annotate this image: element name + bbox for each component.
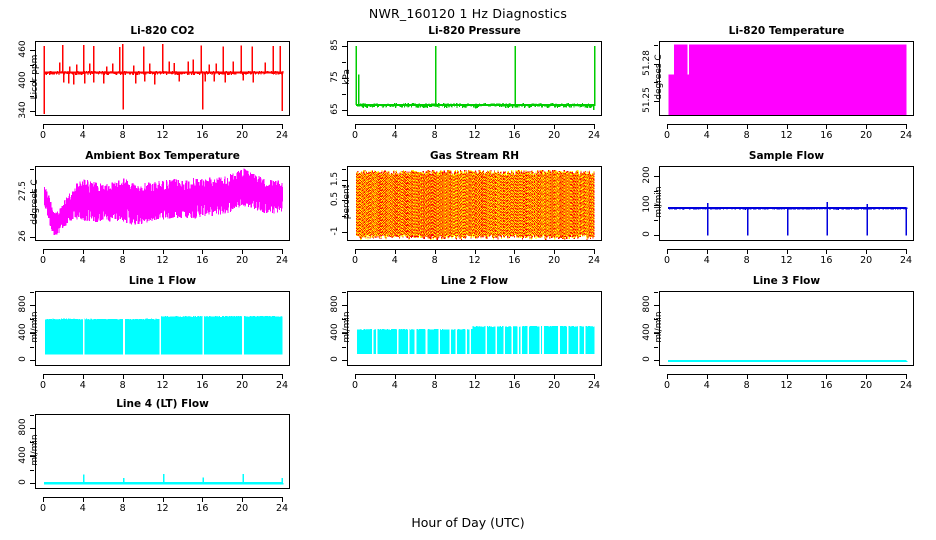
series-ambient-box-temperature [36,167,290,241]
figure-canvas: NWR_160120 1 Hz Diagnostics Li-820 CO234… [0,0,936,540]
ylabel-line-1-flow: ml/min [30,285,40,369]
ylabel-line-2-flow: ml/min [342,285,352,369]
xtick-label-li-820-co2-6: 24 [276,130,288,141]
xtick-label-line-1-flow-4: 16 [196,380,208,391]
xtick-label-gas-stream-rh-1: 4 [392,255,398,266]
xtick-mark [866,124,867,129]
ytick-label-li-820-co2-2: 460 [18,34,28,64]
ytick-label-line-1-flow-2: 800 [18,289,28,319]
plot-area-sample-flow [659,166,914,241]
ytick-label-li-820-pressure-2: 85 [330,30,340,60]
xtick-mark [707,124,708,129]
xtick-label-sample-flow-6: 24 [900,255,912,266]
ylabel-sample-flow: ml/min [654,160,664,244]
ylabel-ambient-box-temperature: degrees C [30,160,40,244]
xtick-mark [667,374,668,379]
xtick-label-line-4-lt-flow-1: 4 [80,503,86,514]
panel-line-3-flow: Line 3 Flow0400800ml/min04812162024 [624,275,936,395]
xtick-mark [355,249,356,254]
ytick-label-li-820-pressure-0: 65 [330,94,340,124]
ytick-label-line-2-flow-0: 0 [330,344,340,374]
xtick-mark [554,249,555,254]
xtick-mark [43,497,44,502]
ytick-label-li-820-co2-1: 400 [18,65,28,95]
xtick-label-line-1-flow-2: 8 [120,380,126,391]
xtick-label-ambient-box-temperature-4: 16 [196,255,208,266]
xtick-label-ambient-box-temperature-0: 0 [40,255,46,266]
xtick-mark [906,124,907,129]
ytick-label-line-3-flow-0: 0 [642,344,652,374]
panel-title-line-1-flow: Line 1 Flow [35,275,290,287]
xtick-label-li-820-co2-2: 8 [120,130,126,141]
plot-area-gas-stream-rh [347,166,602,241]
xtick-label-sample-flow-1: 4 [704,255,710,266]
xtick-label-line-4-lt-flow-6: 24 [276,503,288,514]
xtick-label-line-4-lt-flow-0: 0 [40,503,46,514]
xtick-label-gas-stream-rh-4: 16 [508,255,520,266]
xtick-label-line-3-flow-5: 20 [860,380,872,391]
ytick-label-li-820-temperature-1: 51.28 [642,48,652,78]
ytick-label-gas-stream-rh-2: 1.5 [330,164,340,194]
ytick-label-gas-stream-rh-0: -1 [330,216,340,246]
ylabel-li-820-temperature: degrees C [654,35,664,119]
xtick-label-sample-flow-0: 0 [664,255,670,266]
ytick-label-li-820-temperature-0: 51.25 [642,85,652,115]
xtick-mark [667,249,668,254]
plot-area-line-2-flow [347,291,602,366]
xtick-label-gas-stream-rh-5: 20 [548,255,560,266]
panel-ambient-box-temperature: Ambient Box Temperature2627.5degrees C04… [0,150,312,270]
panel-title-line-4-lt-flow: Line 4 (LT) Flow [35,398,290,410]
xtick-label-li-820-pressure-6: 24 [588,130,600,141]
xtick-label-line-2-flow-6: 24 [588,380,600,391]
ytick-label-line-4-lt-flow-0: 0 [18,467,28,497]
xtick-mark [594,249,595,254]
xtick-mark [707,374,708,379]
ytick-label-li-820-pressure-1: 75 [330,62,340,92]
xtick-label-li-820-pressure-5: 20 [548,130,560,141]
xtick-mark [906,374,907,379]
xtick-mark [163,124,164,129]
xtick-label-li-820-pressure-4: 16 [508,130,520,141]
panel-title-line-2-flow: Line 2 Flow [347,275,602,287]
xtick-label-li-820-temperature-3: 12 [780,130,792,141]
xtick-mark [866,249,867,254]
xtick-label-line-3-flow-3: 12 [780,380,792,391]
xtick-mark [163,249,164,254]
xtick-mark [123,374,124,379]
xtick-mark [435,124,436,129]
ytick-label-sample-flow-1: 100 [642,189,652,219]
xtick-mark [747,249,748,254]
xtick-mark [355,124,356,129]
xtick-mark [787,124,788,129]
ytick-label-line-2-flow-1: 400 [330,317,340,347]
xtick-label-line-1-flow-6: 24 [276,380,288,391]
plot-area-li-820-temperature [659,41,914,116]
xtick-label-li-820-pressure-3: 12 [468,130,480,141]
xtick-label-li-820-temperature-2: 8 [744,130,750,141]
xtick-label-line-1-flow-0: 0 [40,380,46,391]
panel-gas-stream-rh: Gas Stream RH-10.51.5percent04812162024 [312,150,624,270]
figure-title: NWR_160120 1 Hz Diagnostics [0,6,936,21]
xtick-mark [202,497,203,502]
xtick-mark [594,124,595,129]
xtick-label-ambient-box-temperature-6: 24 [276,255,288,266]
xtick-mark [906,249,907,254]
ytick-label-ambient-box-temperature-1: 27.5 [18,176,28,206]
xtick-mark [475,249,476,254]
xtick-mark [395,249,396,254]
xtick-label-li-820-co2-1: 4 [80,130,86,141]
xtick-label-line-2-flow-4: 16 [508,380,520,391]
panel-line-1-flow: Line 1 Flow0400800ml/min04812162024 [0,275,312,395]
xtick-label-line-2-flow-1: 4 [392,380,398,391]
panel-title-gas-stream-rh: Gas Stream RH [347,150,602,162]
xtick-label-li-820-pressure-1: 4 [392,130,398,141]
xtick-label-li-820-temperature-1: 4 [704,130,710,141]
panel-title-li-820-temperature: Li-820 Temperature [659,25,914,37]
ylabel-li-820-co2: Licor ppm [30,35,40,119]
xtick-label-ambient-box-temperature-3: 12 [156,255,168,266]
xtick-label-ambient-box-temperature-1: 4 [80,255,86,266]
ylabel-gas-stream-rh: percent [342,160,352,244]
panel-title-line-3-flow: Line 3 Flow [659,275,914,287]
ytick-label-ambient-box-temperature-0: 26 [18,221,28,251]
xtick-mark [395,124,396,129]
xtick-label-li-820-temperature-5: 20 [860,130,872,141]
panel-title-li-820-pressure: Li-820 Pressure [347,25,602,37]
plot-area-ambient-box-temperature [35,166,290,241]
xtick-label-gas-stream-rh-2: 8 [432,255,438,266]
ytick-label-sample-flow-0: 0 [642,219,652,249]
xtick-mark [826,124,827,129]
ytick-label-line-1-flow-1: 400 [18,317,28,347]
xtick-mark [163,497,164,502]
xtick-label-sample-flow-2: 8 [744,255,750,266]
ytick-label-line-3-flow-1: 400 [642,317,652,347]
xtick-label-li-820-co2-4: 16 [196,130,208,141]
xtick-mark [202,124,203,129]
xtick-label-line-1-flow-3: 12 [156,380,168,391]
xtick-label-line-2-flow-3: 12 [468,380,480,391]
xtick-label-line-2-flow-0: 0 [352,380,358,391]
xtick-mark [43,374,44,379]
xtick-mark [83,374,84,379]
panel-title-sample-flow: Sample Flow [659,150,914,162]
series-line-2-flow [348,292,602,366]
xtick-label-line-1-flow-1: 4 [80,380,86,391]
ylabel-line-3-flow: ml/min [654,285,664,369]
panel-li-820-temperature: Li-820 Temperature51.2551.28degrees C048… [624,25,936,145]
xtick-mark [514,124,515,129]
xtick-mark [395,374,396,379]
ytick-label-line-1-flow-0: 0 [18,344,28,374]
xtick-mark [747,124,748,129]
xtick-mark [475,374,476,379]
xtick-label-li-820-temperature-6: 24 [900,130,912,141]
xtick-mark [514,249,515,254]
xtick-label-sample-flow-5: 20 [860,255,872,266]
panel-line-4-lt-flow: Line 4 (LT) Flow0400800ml/min04812162024 [0,398,312,518]
figure-xlabel: Hour of Day (UTC) [0,515,936,530]
xtick-mark [83,249,84,254]
panel-title-ambient-box-temperature: Ambient Box Temperature [35,150,290,162]
plot-area-line-3-flow [659,291,914,366]
xtick-label-line-3-flow-2: 8 [744,380,750,391]
xtick-mark [123,249,124,254]
xtick-mark [83,124,84,129]
xtick-label-li-820-pressure-2: 8 [432,130,438,141]
xtick-mark [282,124,283,129]
xtick-label-line-1-flow-5: 20 [236,380,248,391]
plot-area-line-4-lt-flow [35,414,290,489]
xtick-label-gas-stream-rh-3: 12 [468,255,480,266]
ytick-label-li-820-co2-0: 340 [18,95,28,125]
xtick-label-sample-flow-4: 16 [820,255,832,266]
xtick-mark [747,374,748,379]
xtick-label-sample-flow-3: 12 [780,255,792,266]
ylabel-line-4-lt-flow: ml/min [30,408,40,492]
series-li-820-temperature [660,42,914,116]
xtick-mark [123,124,124,129]
xtick-label-li-820-co2-0: 0 [40,130,46,141]
xtick-mark [242,497,243,502]
xtick-mark [43,249,44,254]
plot-area-li-820-co2 [35,41,290,116]
xtick-mark [282,374,283,379]
ylabel-li-820-pressure: kPa [342,35,352,119]
xtick-mark [514,374,515,379]
xtick-label-line-2-flow-2: 8 [432,380,438,391]
xtick-label-gas-stream-rh-0: 0 [352,255,358,266]
panel-sample-flow: Sample Flow0100200ml/min04812162024 [624,150,936,270]
xtick-mark [43,124,44,129]
xtick-label-gas-stream-rh-6: 24 [588,255,600,266]
xtick-mark [242,374,243,379]
panel-line-2-flow: Line 2 Flow0400800ml/min04812162024 [312,275,624,395]
xtick-mark [554,124,555,129]
xtick-label-li-820-temperature-4: 16 [820,130,832,141]
xtick-label-line-3-flow-0: 0 [664,380,670,391]
ytick-label-line-4-lt-flow-2: 800 [18,412,28,442]
xtick-mark [594,374,595,379]
xtick-mark [163,374,164,379]
xtick-mark [435,249,436,254]
series-line-4-lt-flow [36,415,290,489]
xtick-label-li-820-pressure-0: 0 [352,130,358,141]
xtick-label-line-4-lt-flow-2: 8 [120,503,126,514]
xtick-label-line-4-lt-flow-4: 16 [196,503,208,514]
xtick-label-li-820-co2-3: 12 [156,130,168,141]
xtick-label-line-4-lt-flow-3: 12 [156,503,168,514]
series-line-1-flow [36,292,290,366]
xtick-label-line-3-flow-6: 24 [900,380,912,391]
series-li-820-co2 [36,42,290,116]
panel-li-820-co2: Li-820 CO2340400460Licor ppm04812162024 [0,25,312,145]
xtick-mark [202,249,203,254]
xtick-mark [242,124,243,129]
xtick-label-ambient-box-temperature-5: 20 [236,255,248,266]
series-sample-flow [660,167,914,241]
xtick-mark [123,497,124,502]
plot-area-line-1-flow [35,291,290,366]
xtick-label-line-4-lt-flow-5: 20 [236,503,248,514]
xtick-mark [866,374,867,379]
xtick-mark [242,249,243,254]
xtick-mark [83,497,84,502]
xtick-mark [282,497,283,502]
ytick-label-line-2-flow-2: 800 [330,289,340,319]
panel-li-820-pressure: Li-820 Pressure657585kPa04812162024 [312,25,624,145]
xtick-mark [787,249,788,254]
xtick-mark [707,249,708,254]
ytick-label-line-4-lt-flow-1: 400 [18,440,28,470]
xtick-mark [282,249,283,254]
plot-area-li-820-pressure [347,41,602,116]
xtick-label-ambient-box-temperature-2: 8 [120,255,126,266]
ytick-label-sample-flow-2: 200 [642,160,652,190]
xtick-label-line-3-flow-1: 4 [704,380,710,391]
series-li-820-pressure [348,42,602,116]
xtick-mark [435,374,436,379]
xtick-mark [355,374,356,379]
xtick-mark [667,124,668,129]
xtick-mark [826,374,827,379]
series-gas-stream-rh [348,167,602,241]
xtick-label-li-820-co2-5: 20 [236,130,248,141]
xtick-mark [475,124,476,129]
series-line-3-flow [660,292,914,366]
panel-title-li-820-co2: Li-820 CO2 [35,25,290,37]
xtick-mark [787,374,788,379]
xtick-label-line-3-flow-4: 16 [820,380,832,391]
xtick-mark [826,249,827,254]
xtick-mark [554,374,555,379]
xtick-mark [202,374,203,379]
xtick-label-line-2-flow-5: 20 [548,380,560,391]
ytick-label-line-3-flow-2: 800 [642,289,652,319]
xtick-label-li-820-temperature-0: 0 [664,130,670,141]
